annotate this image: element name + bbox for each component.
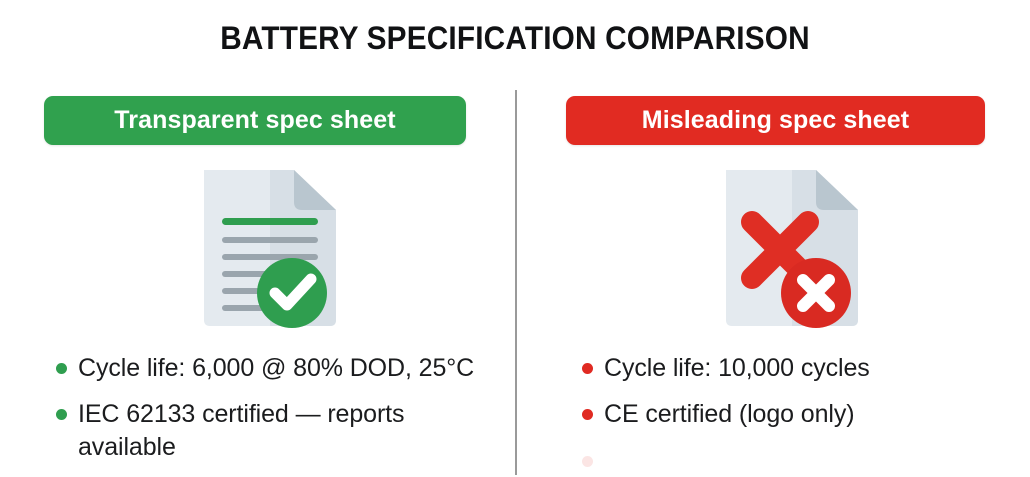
column-transparent: Transparent spec sheet (30, 90, 500, 475)
bullet-dot-icon (582, 456, 593, 467)
page-title: BATTERY SPECIFICATION COMPARISON (36, 20, 994, 57)
list-item-label: Cycle life: 10,000 cycles (604, 354, 870, 382)
list-item: Cycle life: 10,000 cycles (570, 352, 1030, 384)
column-misleading: Misleading spec sheet Cy (552, 90, 1022, 475)
bullet-dot-icon (582, 363, 593, 374)
list-item: IEC 62133 certified — reports available (44, 398, 504, 463)
list-item-label: Cycle life: 6,000 @ 80% DOD, 25°C (78, 354, 474, 382)
bullet-dot-icon (582, 409, 593, 420)
banner-misleading-spec-sheet[interactable]: Misleading spec sheet (566, 96, 985, 145)
check-badge-icon (257, 258, 327, 328)
bullet-list-misleading: Cycle life: 10,000 cycles CE certified (… (570, 352, 1030, 445)
banner-transparent-spec-sheet[interactable]: Transparent spec sheet (44, 96, 466, 145)
cross-badge-icon (781, 258, 851, 328)
column-divider (515, 90, 517, 475)
document-cross-icon (712, 162, 872, 334)
bullet-dot-icon (56, 363, 67, 374)
list-item-label: CE certified (logo only) (604, 400, 854, 428)
list-item: Cycle life: 6,000 @ 80% DOD, 25°C (44, 352, 504, 384)
list-item: CE certified (logo only) (570, 398, 1030, 430)
bullet-dot-icon (56, 409, 67, 420)
list-item-label: IEC 62133 certified — reports available (78, 400, 404, 460)
document-check-icon (190, 162, 350, 334)
bullet-list-transparent: Cycle life: 6,000 @ 80% DOD, 25°C IEC 62… (44, 352, 504, 477)
